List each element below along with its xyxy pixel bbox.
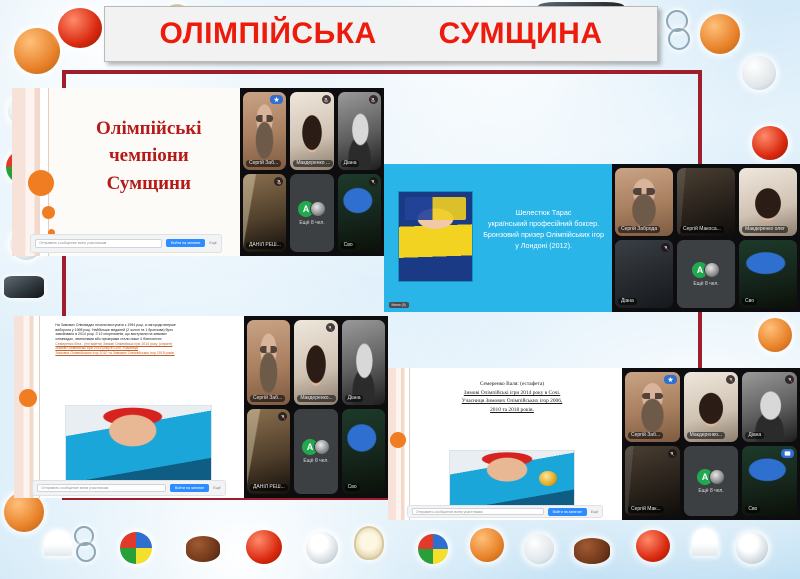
slide-heading-1: Олімпійські чемпіони Сумщини [71, 115, 226, 198]
participant-tile[interactable]: Сергій Заб... [625, 372, 680, 442]
soccer-ball-icon [736, 532, 768, 564]
football-icon [574, 538, 610, 564]
document-slide-1: На Зимових Олімпіадах почали виступати з… [14, 316, 244, 498]
participant-tile-grid-4: Сергій Заб... Макдеренко... Діана Сергій… [622, 368, 800, 520]
participant-tile[interactable]: Сво [342, 409, 385, 494]
participant-tile[interactable]: Макдеренко... [294, 320, 337, 405]
participant-name: Сергій Макоса... [680, 226, 724, 234]
avatar [709, 469, 725, 485]
participant-name: Діана [745, 432, 764, 440]
boxing-glove-icon [636, 530, 670, 562]
basketball-icon [14, 28, 60, 74]
equipment-icon [4, 276, 44, 298]
participant-tile[interactable]: Діана [742, 372, 797, 442]
mic-muted-icon[interactable] [322, 95, 331, 104]
participant-tile-grid-1: Сергій Заб... Макдеренко ... Діана ДАНІЛ… [240, 88, 384, 256]
more-participants-label: Ещё 8 чел. [698, 488, 723, 494]
zoom-meeting-screenshot-2[interactable]: Шелестюк Тарас український професійний б… [384, 164, 800, 312]
participant-name: Сво [745, 506, 760, 514]
more-participants-tile[interactable]: A Ещё 8 чел. [677, 240, 735, 308]
participant-tile[interactable]: Сво [739, 240, 797, 308]
pin-icon[interactable] [664, 375, 677, 384]
slide-dot-large [19, 389, 37, 407]
boxing-glove-icon [58, 8, 102, 48]
avatar-group: A [302, 439, 330, 455]
participant-tile[interactable]: Сергій Заб... [247, 320, 290, 405]
shuttlecock-icon [44, 530, 72, 556]
sem-link-line[interactable]: Учасниця Зимових Олімпійських ігор 2006, [416, 397, 608, 406]
racket-icon [354, 526, 384, 560]
participant-name: Сво [341, 242, 356, 250]
slide-dot-large [28, 170, 54, 196]
semerenko-text: Семеренко Валя: (естафета) Зимові Олімпі… [416, 380, 608, 415]
avatar-group: A [692, 262, 720, 278]
participant-name: Макдеренко... [297, 395, 335, 403]
join-button-1[interactable]: Войти на занятие [166, 239, 205, 247]
more-participants-label: Ещё 8 чел. [693, 281, 718, 287]
more-participants-content: A Ещё 8 чел. [290, 174, 333, 252]
join-button-4[interactable]: Войти на занятие [548, 508, 587, 516]
sem-link-line[interactable]: Зимові Олімпійські ігри 2014 року в Сочі… [416, 389, 608, 398]
participant-tile[interactable]: Діана [615, 240, 673, 308]
pin-icon[interactable] [270, 95, 283, 104]
participant-name: Діана [618, 298, 637, 306]
participant-name: Макдеренко ... [293, 160, 333, 168]
participant-video [294, 320, 337, 405]
more-options-1[interactable]: Ещё [209, 241, 216, 245]
soccer-ball-icon [306, 532, 338, 564]
slide-dot-medium [42, 206, 55, 219]
biathlete-photo-1 [65, 405, 212, 489]
participant-tile[interactable]: Макдеренко ... [290, 92, 333, 170]
more-options-4[interactable]: Ещё [591, 510, 598, 514]
join-button-3[interactable]: Войти на занятие [170, 484, 209, 492]
boxing-glove-icon [752, 126, 788, 160]
mic-muted-icon[interactable] [785, 375, 794, 384]
participant-video [247, 409, 290, 494]
slide-heading-line: чемпіони [71, 142, 226, 170]
slide-heading-line: Сумщини [71, 170, 226, 198]
participant-tile[interactable]: Сергій Заб... [243, 92, 286, 170]
participant-tile[interactable]: Сергій Мак... [625, 446, 680, 516]
boxing-glove-icon [246, 530, 282, 564]
document-slide-2: Семеренко Валя: (естафета) Зимові Олімпі… [388, 368, 622, 520]
page-title-right: СУМЩИНА [439, 17, 603, 51]
beachball-icon [120, 532, 152, 564]
page-title: ОЛІМПІЙСЬКА СУМЩИНА [104, 6, 658, 62]
participant-name: Діана [341, 160, 360, 168]
participant-name: Макдеренко олег [742, 226, 788, 234]
avatar [314, 439, 330, 455]
mic-muted-icon[interactable] [326, 323, 335, 332]
share-screen-icon[interactable] [781, 449, 794, 458]
volleyball-icon [524, 534, 554, 564]
chat-input-3[interactable]: Отправить сообщение всем участникам [37, 484, 166, 492]
participant-tile[interactable]: Макдеренко олег [739, 168, 797, 236]
participant-tile[interactable]: Діана [342, 320, 385, 405]
participant-tile-grid-2: Сергій Заброда Сергій Макоса... Макдерен… [612, 164, 800, 312]
shared-slide-area-4: Семеренко Валя: (естафета) Зимові Олімпі… [388, 368, 622, 520]
more-participants-label: Ещё 8 чел. [303, 458, 328, 464]
participant-video [247, 320, 290, 405]
zoom-meeting-screenshot-1[interactable]: Олімпійські чемпіони Сумщини Отправить с… [12, 88, 384, 256]
participant-name: Сергій Заб... [250, 395, 285, 403]
slide-heading-line: Олімпійські [71, 115, 226, 143]
shared-slide-area-1: Олімпійські чемпіони Сумщини Отправить с… [12, 88, 240, 256]
participant-name: Діана [345, 395, 364, 403]
more-participants-content: A Ещё 8 чел. [677, 240, 735, 308]
participant-name: Сергій Мак... [628, 506, 664, 514]
participant-tile[interactable]: ДАНІЛ РЕШ... [243, 174, 286, 252]
document-paragraph: На Зимових Олімпіадах почали виступати з… [55, 323, 232, 355]
zoom-chat-toolbar-4[interactable]: Отправить сообщение всем участникам Войт… [407, 505, 604, 519]
participant-tile[interactable]: Макдеренко... [684, 372, 739, 442]
participant-tile-grid-3: Сергій Заб... Макдеренко... Діана ДАНІЛ … [244, 316, 388, 498]
participant-video [342, 320, 385, 405]
title-slide-1: Олімпійські чемпіони Сумщини Отправить с… [12, 88, 240, 256]
page-title-left: ОЛІМПІЙСЬКА [159, 17, 376, 51]
shared-slide-area-3: На Зимових Олімпіадах почали виступати з… [14, 316, 244, 498]
zoom-chat-toolbar-1[interactable]: Отправить сообщение всем участникам Войт… [30, 234, 222, 252]
volleyball-icon [742, 56, 776, 90]
slide-decoration-stripe [14, 316, 39, 498]
participant-name: Сергій Заброда [618, 226, 660, 234]
avatar [704, 262, 720, 278]
participant-tile[interactable]: Сергій Макоса... [677, 168, 735, 236]
slide-menu-chip[interactable]: Меню (5) [389, 302, 409, 308]
boxer-text-line: Шелестюк Тарас [480, 208, 608, 219]
participant-name: Сво [742, 298, 757, 306]
boxer-slide-text: Шелестюк Тарас український професійний б… [480, 208, 608, 251]
more-participants-tile[interactable]: A Ещё 8 чел. [290, 174, 333, 252]
more-participants-content: A Ещё 8 чел. [684, 446, 739, 516]
basketball-icon [470, 528, 504, 562]
participant-name: Сергій Заб... [246, 160, 281, 168]
participant-name: Макдеренко... [687, 432, 725, 440]
mic-muted-icon[interactable] [369, 95, 378, 104]
participant-name: Сергій Заб... [628, 432, 663, 440]
boxer-slide: Шелестюк Тарас український професійний б… [384, 164, 612, 312]
boxer-photo [398, 191, 473, 283]
zoom-meeting-screenshot-3[interactable]: На Зимових Олімпіадах почали виступати з… [14, 316, 388, 498]
zoom-chat-toolbar-3[interactable]: Отправить сообщение всем участникам Войт… [32, 480, 225, 496]
chat-input-1[interactable]: Отправить сообщение всем участникам [35, 239, 162, 249]
boxer-text-line: Бронзовий призер Олімпійських ігор [480, 230, 608, 241]
sem-line: Семеренко Валя: (естафета) [416, 380, 608, 389]
ring-icon [76, 542, 96, 562]
participant-name: ДАНІЛ РЕШ... [246, 242, 284, 250]
participant-tile[interactable]: Сво [742, 446, 797, 516]
boxer-text-line: у Лондоні (2012). [480, 241, 608, 252]
more-participants-content: A Ещё 8 чел. [294, 409, 337, 494]
participant-name: ДАНІЛ РЕШ... [250, 484, 288, 492]
basketball-icon [758, 318, 792, 352]
participant-tile[interactable]: Діана [338, 92, 381, 170]
boxer-text-line: український професійний боксер. [480, 219, 608, 230]
more-options-3[interactable]: Ещё [213, 486, 220, 490]
beachball-icon [418, 534, 448, 564]
zoom-meeting-screenshot-4[interactable]: Семеренко Валя: (естафета) Зимові Олімпі… [388, 368, 800, 520]
more-participants-tile[interactable]: A Ещё 8 чел. [294, 409, 337, 494]
basketball-icon [4, 492, 44, 532]
participant-tile[interactable]: Сво [338, 174, 381, 252]
participant-tile[interactable]: Сергій Заброда [615, 168, 673, 236]
chat-input-4[interactable]: Отправить сообщение всем участникам [412, 508, 544, 515]
basketball-icon [700, 14, 740, 54]
mic-muted-icon[interactable] [369, 177, 378, 186]
more-participants-label: Ещё 8 чел. [299, 220, 324, 226]
avatar [310, 201, 326, 217]
participant-name: Сво [345, 484, 360, 492]
sem-link-line[interactable]: 2010 та 2018 років. [416, 406, 608, 415]
avatar-group: A [697, 469, 725, 485]
shuttlecock-icon [692, 528, 718, 556]
football-icon [186, 536, 220, 562]
doc-link-line[interactable]: Зимових Олімпійських ігор 2010 та Зимови… [55, 351, 232, 356]
shared-slide-area-2: Шелестюк Тарас український професійний б… [384, 164, 612, 312]
ring-icon [668, 28, 690, 50]
more-participants-tile[interactable]: A Ещё 8 чел. [684, 446, 739, 516]
avatar-group: A [298, 201, 326, 217]
participant-tile[interactable]: ДАНІЛ РЕШ... [247, 409, 290, 494]
participant-video [342, 409, 385, 494]
mic-muted-icon[interactable] [668, 449, 677, 458]
mic-muted-icon[interactable] [661, 243, 670, 252]
